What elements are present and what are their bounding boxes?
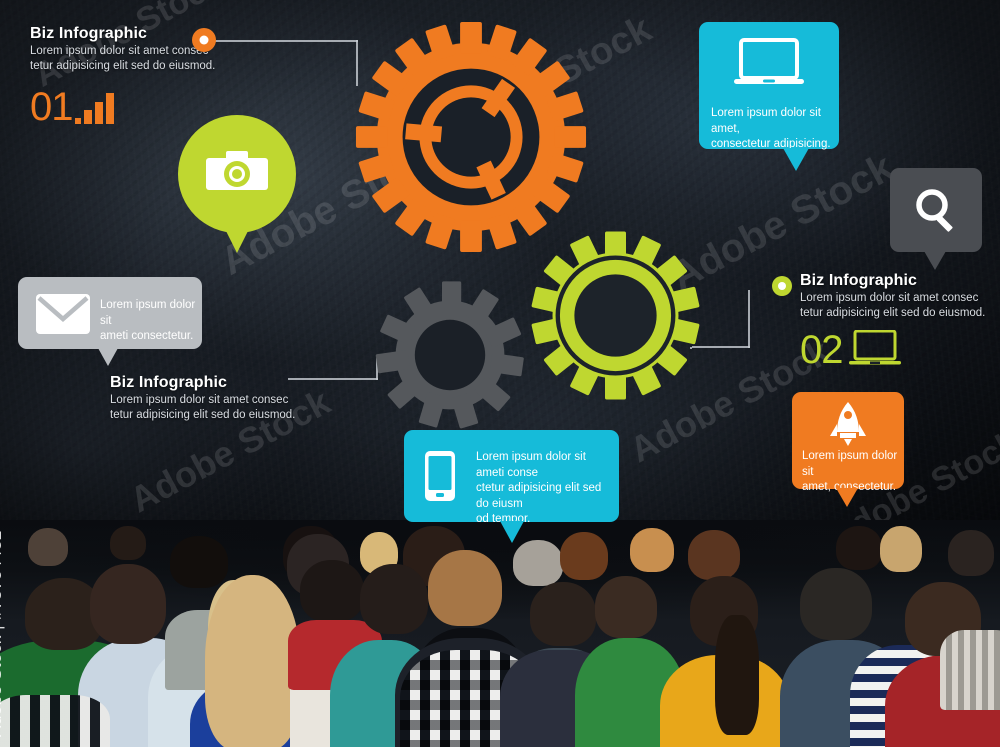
infographic-canvas: Adobe Stock Adobe Stock Adobe Stock Adob… <box>0 0 1000 747</box>
info-body-line: Lorem ipsum dolor sit amet consec <box>110 393 310 408</box>
person-head <box>110 526 146 560</box>
bubble-text-line: ameti consectetur. <box>100 329 196 345</box>
laptop-icon <box>849 330 901 368</box>
bubble-text: Lorem ipsum dolor sit ameti consectetur. <box>100 298 196 345</box>
gear-orange <box>352 18 590 256</box>
person-body <box>0 695 110 747</box>
magnifier-icon <box>913 186 961 234</box>
info-number: 02 <box>800 330 843 370</box>
bubble-tail <box>836 488 858 507</box>
bubble-search[interactable] <box>890 168 982 252</box>
info-body-line: tetur adipisicing elit sed do eiusmod. <box>110 408 310 423</box>
info-body-line: tetur adipisicing elit sed do eiusmod. <box>30 59 230 74</box>
stock-watermark: Adobe Stock | #78754432 <box>0 530 6 737</box>
bubble-text: Lorem ipsum dolor sit amet, consectetur … <box>711 106 831 153</box>
smartphone-icon <box>425 451 455 501</box>
camera-icon <box>206 149 268 197</box>
info-block-03: Biz Infographic Lorem ipsum dolor sit am… <box>110 374 310 422</box>
bubble-rocket[interactable]: Lorem ipsum dolor sit amet, consectetur. <box>792 392 904 489</box>
gear-gray <box>355 275 545 435</box>
person-head <box>880 526 922 572</box>
rocket-icon <box>828 402 868 450</box>
laptop-icon <box>733 38 805 88</box>
info-number: 01 <box>30 87 73 127</box>
person-hair <box>205 575 300 747</box>
info-title: Biz Infographic <box>800 272 1000 290</box>
person-head <box>28 528 68 566</box>
bubble-tail <box>783 148 809 171</box>
bubble-text-line: Lorem ipsum dolor sit <box>802 449 900 480</box>
bubble-laptop[interactable]: Lorem ipsum dolor sit amet, consectetur … <box>699 22 839 149</box>
bubble-text-line: ctetur adipisicing elit sed do eiusm <box>476 481 616 512</box>
person-head <box>630 528 674 572</box>
connector-line-02-v <box>748 290 750 348</box>
bubble-tail <box>924 251 946 270</box>
person-body <box>940 630 1000 710</box>
marker-dot-01[interactable] <box>192 28 216 52</box>
person-head <box>360 564 428 634</box>
person-head <box>170 536 228 588</box>
info-block-02: Biz Infographic Lorem ipsum dolor sit am… <box>800 272 1000 370</box>
person-head <box>90 564 166 644</box>
person-head <box>595 576 657 638</box>
info-body-line: Lorem ipsum dolor sit amet consec <box>800 291 1000 306</box>
bubble-text-line: consectetur adipisicing. <box>711 137 831 153</box>
person-head <box>948 530 994 576</box>
bubble-text-line: Lorem ipsum dolor sit amet, <box>711 106 831 137</box>
bubble-tail <box>225 229 249 253</box>
person-head <box>300 560 364 622</box>
info-title: Biz Infographic <box>110 374 310 392</box>
bubble-tail <box>98 348 118 366</box>
marker-dot-02[interactable] <box>772 276 792 296</box>
bubble-text: Lorem ipsum dolor sit ameti conse ctetur… <box>476 450 616 528</box>
bubble-text-line: Lorem ipsum dolor sit ameti conse <box>476 450 616 481</box>
bar-chart-icon <box>75 92 119 124</box>
info-body-line: tetur adipisicing elit sed do eiusmod. <box>800 306 1000 321</box>
person-head <box>688 530 740 580</box>
person-head <box>836 526 882 570</box>
bubble-text-line: od tempor. <box>476 512 616 528</box>
person-hair <box>715 615 759 735</box>
bubble-mail[interactable]: Lorem ipsum dolor sit ameti consectetur. <box>18 277 202 349</box>
person-head <box>560 532 608 580</box>
person-head <box>513 540 563 586</box>
person-head <box>530 582 596 646</box>
bubble-camera[interactable] <box>178 115 296 233</box>
audience-photo <box>0 520 1000 747</box>
bubble-text-line: Lorem ipsum dolor sit <box>100 298 196 329</box>
connector-line-01-h <box>215 40 358 42</box>
person-head <box>428 550 502 626</box>
envelope-icon <box>36 294 90 334</box>
bubble-tail <box>500 521 524 543</box>
person-head <box>800 568 872 640</box>
bubble-phone[interactable]: Lorem ipsum dolor sit ameti conse ctetur… <box>404 430 619 522</box>
